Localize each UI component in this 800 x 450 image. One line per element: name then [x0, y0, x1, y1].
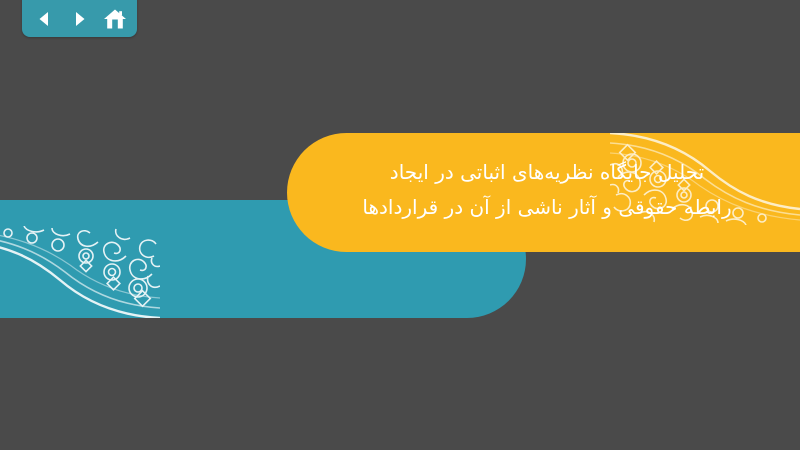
title-line-2: رابطه حقوقی و آثار ناشی از آن در قرارداد…: [332, 190, 762, 225]
forward-icon: [70, 9, 90, 29]
home-icon: [103, 8, 127, 30]
arabesque-ornament-icon: [0, 226, 160, 318]
slide-title: تحلیل جایگاه نظریه‌های اثباتی در ایجاد ر…: [332, 155, 762, 225]
home-button[interactable]: [102, 6, 128, 32]
title-line-1: تحلیل جایگاه نظریه‌های اثباتی در ایجاد: [332, 155, 762, 190]
forward-button[interactable]: [67, 6, 93, 32]
navigation-bar: [22, 0, 137, 37]
orange-title-banner: تحلیل جایگاه نظریه‌های اثباتی در ایجاد ر…: [287, 133, 800, 252]
back-button[interactable]: [31, 6, 57, 32]
back-icon: [34, 9, 54, 29]
